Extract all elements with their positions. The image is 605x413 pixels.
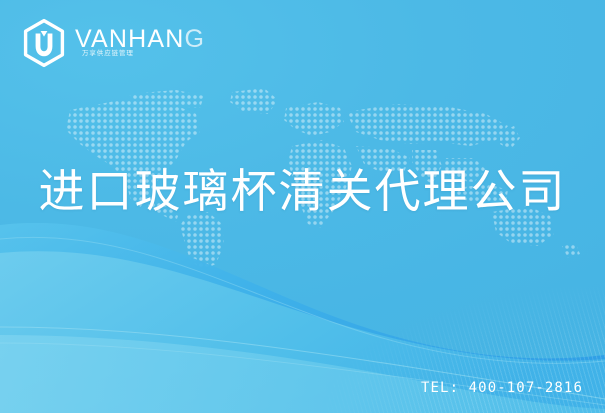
brand-logo: VANHANG 万享供应链管理 (22, 18, 205, 68)
contact-phone: TEL: 400-107-2816 (421, 380, 583, 396)
page-title: 进口玻璃杯清关代理公司 (0, 162, 605, 220)
brand-wordmark-tail: G (185, 25, 206, 53)
promo-banner: VANHANG 万享供应链管理 进口玻璃杯清关代理公司 TEL: 400-107… (0, 0, 605, 413)
vanhang-hexagon-logo (22, 18, 66, 68)
brand-subtitle: 万享供应链管理 (82, 47, 134, 57)
brand-wordmark-group: VANHANG 万享供应链管理 (75, 26, 205, 60)
